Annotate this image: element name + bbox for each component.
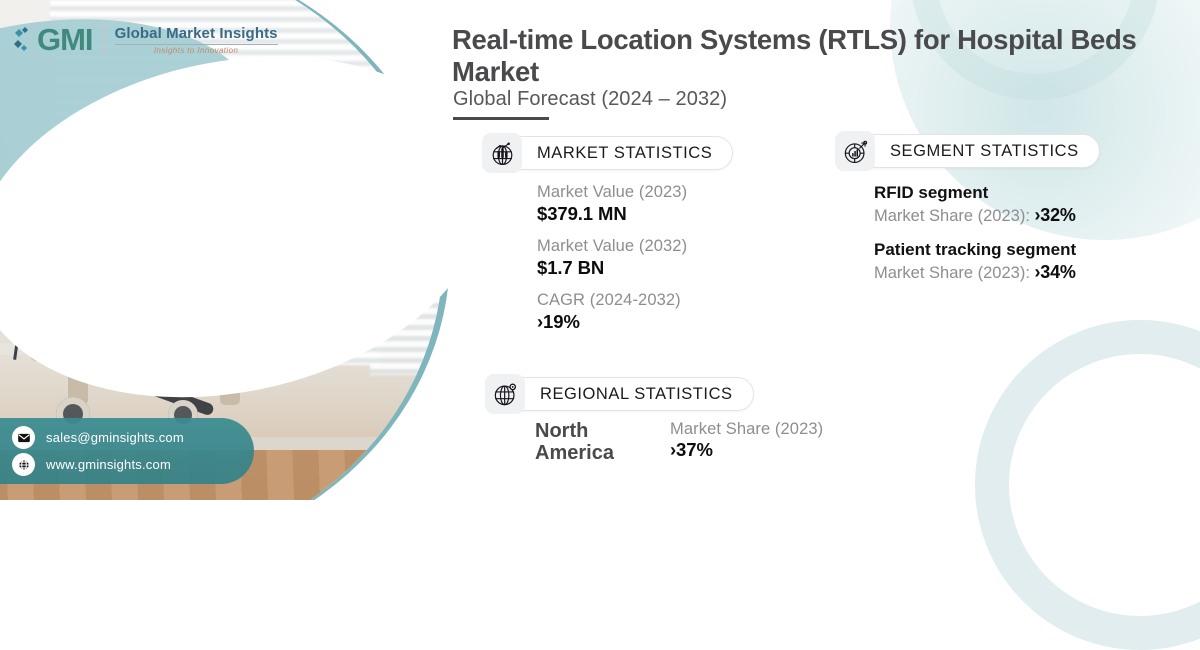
market-stat-item: CAGR (2024-2032) ›19% [537,291,687,333]
segment-statistics-label: SEGMENT STATISTICS [890,142,1079,161]
title-underline-rule [453,117,549,120]
market-stat-label: CAGR (2024-2032) [537,291,687,310]
segment-stat-line: Market Share (2023): ›32% [874,205,1144,226]
market-stat-value: $379.1 MN [537,203,687,225]
logo-divider [103,26,105,54]
region-share-label: Market Share (2023) [670,420,823,439]
market-statistics-label: MARKET STATISTICS [537,144,712,163]
regional-statistics-pill: REGIONAL STATISTICS [517,377,754,411]
brand-logo[interactable]: GMI Global Market Insights Insights to I… [14,22,278,58]
brand-name: Global Market Insights [115,25,278,42]
region-share-block: Market Share (2023) ›37% [670,420,823,461]
regional-statistics-label: REGIONAL STATISTICS [540,385,733,404]
market-statistics-pill: MARKET STATISTICS [514,136,733,170]
contact-website-row[interactable]: www.gminsights.com [12,453,244,476]
segment-statistics-badge: SEGMENT STATISTICS [835,131,1100,171]
contact-website-text: www.gminsights.com [46,457,171,472]
regional-statistics-badge: REGIONAL STATISTICS [485,374,754,414]
logo-mark-text: GMI [37,22,93,58]
segment-stat-item: RFID segment Market Share (2023): ›32% [874,183,1144,226]
market-statistics-badge: MARKET STATISTICS [482,133,733,173]
contact-email-text: sales@gminsights.com [46,430,184,445]
market-stat-label: Market Value (2032) [537,237,687,256]
region-share-value: ›37% [670,439,713,460]
market-statistics-list: Market Value (2023) $379.1 MN Market Val… [537,183,687,333]
contact-email-row[interactable]: sales@gminsights.com [12,426,244,449]
segment-stat-label: Market Share (2023): [874,207,1035,225]
regional-statistics-content: North America Market Share (2023) ›37% [535,420,823,465]
page-subtitle: Global Forecast (2024 – 2032) [453,88,727,111]
segment-statistics-list: RFID segment Market Share (2023): ›32% P… [874,183,1144,283]
segment-stat-label: Market Share (2023): [874,264,1035,282]
hero-image-panel: sales@gminsights.com www.gminsights.com [0,0,470,500]
content-area: Real-time Location Systems (RTLS) for Ho… [452,0,1200,500]
segment-stat-title: RFID segment [874,183,1144,203]
logo-underline [115,44,278,45]
envelope-icon [12,426,35,449]
market-stat-value: ›19% [537,311,687,333]
globe-chart-icon [482,133,522,173]
globe-pin-icon [485,374,525,414]
market-stat-value: $1.7 BN [537,257,687,279]
segment-statistics-pill: SEGMENT STATISTICS [867,134,1100,168]
page-title: Real-time Location Systems (RTLS) for Ho… [452,24,1152,89]
contact-bar: sales@gminsights.com www.gminsights.com [0,418,254,484]
segment-stat-title: Patient tracking segment [874,240,1144,260]
segment-stat-item: Patient tracking segment Market Share (2… [874,240,1144,283]
logo-diamonds-icon [14,25,30,55]
market-stat-label: Market Value (2023) [537,183,687,202]
brand-tagline: Insights to Innovation [115,46,278,55]
segment-stat-value: ›34% [1035,262,1076,282]
market-stat-item: Market Value (2032) $1.7 BN [537,237,687,279]
segment-stat-line: Market Share (2023): ›34% [874,262,1144,283]
market-stat-item: Market Value (2023) $379.1 MN [537,183,687,225]
globe-icon [12,453,35,476]
logo-wordmark: Global Market Insights Insights to Innov… [115,25,278,55]
segment-stat-value: ›32% [1035,205,1076,225]
pie-chart-target-icon [835,131,875,171]
region-name: North America [535,420,650,465]
